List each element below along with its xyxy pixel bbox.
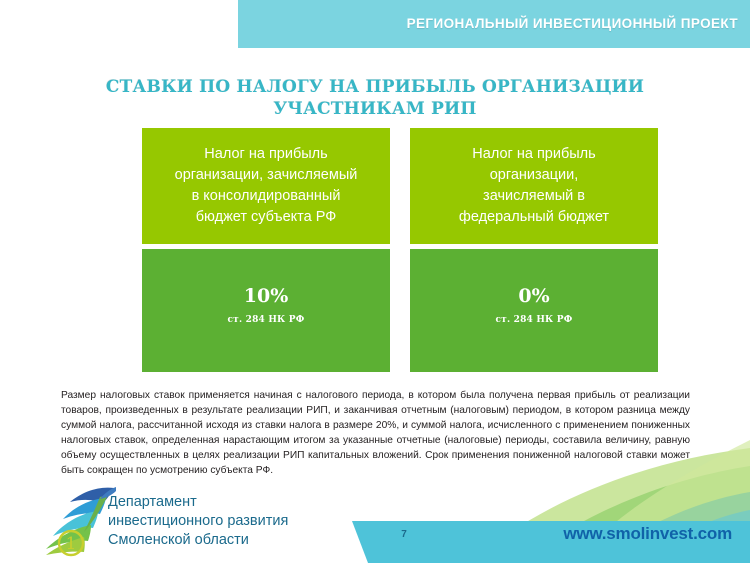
page-title-line-1: СТАВКИ ПО НАЛОГУ НА ПРИБЫЛЬ ОРГАНИЗАЦИИ xyxy=(106,77,644,97)
slide-canvas: РЕГИОНАЛЬНЫЙ ИНВЕСТИЦИОННЫЙ ПРОЕКТ СТАВК… xyxy=(0,0,750,563)
card-value-panel: 0% ст. 284 НК РФ xyxy=(410,249,658,372)
body-paragraph: Размер налоговых ставок применяется начи… xyxy=(61,388,690,479)
card-heading-panel: Налог на прибыль организации, зачисляемы… xyxy=(142,128,390,244)
logo-wordmark-text: Департамент инвестиционного развития Смо… xyxy=(108,493,288,550)
card-heading-text: Налог на прибыль организации, зачисляемы… xyxy=(459,144,609,228)
page-title-line-2: УЧАСТНИКАМ РИП xyxy=(0,98,750,120)
card-heading-panel: Налог на прибыль организации, зачисляемы… xyxy=(410,128,658,244)
card-value-panel: 10% ст. 284 НК РФ xyxy=(142,249,390,372)
tax-rate-cards: Налог на прибыль организации, зачисляемы… xyxy=(142,128,658,372)
card-legal-reference: ст. 284 НК РФ xyxy=(228,314,305,326)
card-legal-reference: ст. 284 НК РФ xyxy=(496,314,573,326)
logo-feather-shapes xyxy=(46,487,116,555)
website-url[interactable]: www.smolinvest.com xyxy=(563,524,732,544)
card-rate-value: 10% xyxy=(244,285,289,307)
card-rate-value: 0% xyxy=(518,285,549,307)
page-title: СТАВКИ ПО НАЛОГУ НА ПРИБЫЛЬ ОРГАНИЗАЦИИ … xyxy=(0,76,750,120)
tax-rate-card-federal: Налог на прибыль организации, зачисляемы… xyxy=(410,128,658,372)
header-bar: РЕГИОНАЛЬНЫЙ ИНВЕСТИЦИОННЫЙ ПРОЕКТ xyxy=(238,0,750,48)
page-number: 7 xyxy=(392,529,416,540)
header-title: РЕГИОНАЛЬНЫЙ ИНВЕСТИЦИОННЫЙ ПРОЕКТ xyxy=(407,0,738,48)
logo-badge-number: 1 xyxy=(66,534,77,554)
tax-rate-card-regional: Налог на прибыль организации, зачисляемы… xyxy=(142,128,390,372)
card-heading-text: Налог на прибыль организации, зачисляемы… xyxy=(175,144,358,228)
